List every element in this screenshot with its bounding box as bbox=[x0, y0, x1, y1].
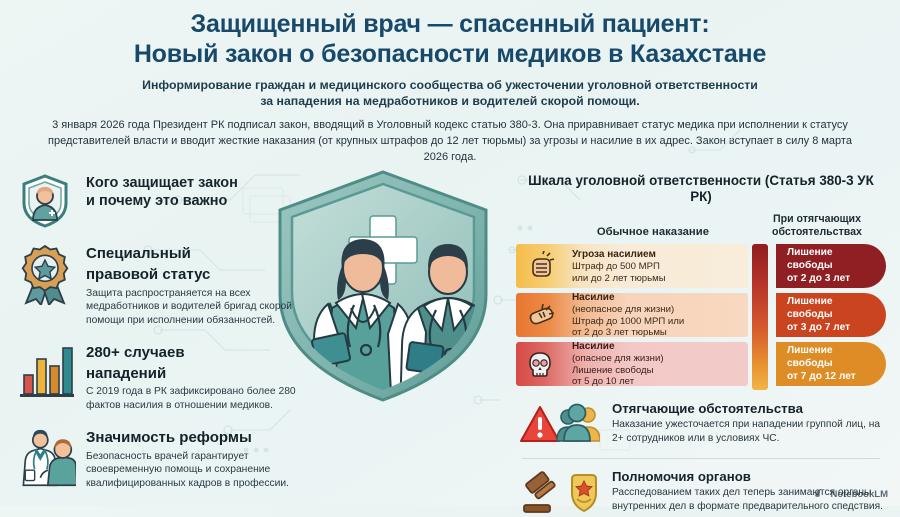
aggravated-line2: от 3 до 7 лет bbox=[787, 322, 872, 335]
penalty-sub-line1: (неопасное для жизни) bbox=[572, 304, 684, 316]
skull-icon bbox=[516, 342, 564, 386]
column-header-aggravated-line2: обстоятельствах bbox=[748, 226, 886, 239]
note-title: Отягчающие обстоятельства bbox=[612, 401, 886, 416]
note-authority-powers: Полномочия органов Расспедованием таких … bbox=[516, 469, 886, 517]
note-aggravating-circumstances: Отягчающие обстоятельства Наказание ужес… bbox=[516, 401, 886, 449]
block-title-line2: нападений bbox=[86, 365, 299, 383]
right-column: Шкала уголовной ответственности (Статья … bbox=[516, 173, 886, 517]
page-title-line2: Новый закон о безопасности медиков в Каз… bbox=[30, 40, 870, 70]
penalty-title: Угроза насилием bbox=[572, 249, 666, 261]
left-heading-line1: Кого защищает закон bbox=[86, 175, 238, 193]
penalty-sub-line3: от 2 до 3 лет тюрьмы bbox=[572, 327, 684, 337]
penalty-row-violence-lethal[interactable]: Насилие (опасное для жизни) Лишение своб… bbox=[516, 342, 748, 386]
aggravated-line1: Лишение свободы bbox=[787, 345, 872, 371]
penalty-row-threat[interactable]: Угроза насилием Штраф до 500 МРП или до … bbox=[516, 244, 748, 288]
aggravated-line2: от 2 до 3 лет bbox=[787, 273, 872, 286]
left-section-heading-block: Кого защищает закон и почему это важно bbox=[14, 173, 299, 229]
left-column: Кого защищает закон и почему это важно С… bbox=[14, 173, 299, 517]
penalty-sub-line1: (опасное для жизни) bbox=[572, 353, 664, 365]
subtitle-line2: за нападения на медработников и водителе… bbox=[30, 93, 870, 109]
block-body: С 2019 года в РК зафиксировано более 280… bbox=[86, 385, 299, 413]
block-title-line1: 280+ случаев bbox=[86, 344, 299, 362]
penalty-sub-line1: Штраф до 500 МРП bbox=[572, 261, 666, 273]
penalty-sub-line3: от 5 до 10 лет bbox=[572, 376, 664, 386]
block-body: Защита распространяется на всех медработ… bbox=[86, 287, 299, 328]
block-title-line1: Значимость реформы bbox=[86, 429, 299, 447]
aggravated-penalty-list: Лишение свободы от 2 до 3 лет Лишение св… bbox=[776, 244, 886, 391]
aggravated-penalty-row-1[interactable]: Лишение свободы от 2 до 3 лет bbox=[776, 244, 886, 288]
section-divider bbox=[522, 458, 880, 459]
column-header-aggravated-line1: При отягчающих bbox=[748, 213, 886, 226]
injured-hand-icon bbox=[516, 293, 564, 337]
block-title-line2: правовой статус bbox=[86, 266, 299, 284]
doctor-patient-icon bbox=[14, 427, 76, 489]
penalty-title: Насилие bbox=[572, 342, 664, 353]
scale-body: Угроза насилием Штраф до 500 МРП или до … bbox=[516, 244, 886, 391]
aggravated-line2: от 7 до 12 лет bbox=[787, 371, 872, 384]
aggravated-line1: Лишение свободы bbox=[787, 296, 872, 322]
warning-triangle-and-group-icon bbox=[516, 401, 602, 449]
aggravated-penalty-row-3[interactable]: Лишение свободы от 7 до 12 лет bbox=[776, 342, 886, 386]
aggravated-line1: Лишение свободы bbox=[787, 247, 872, 273]
subtitle-line1: Информирование граждан и медицинского со… bbox=[30, 77, 870, 93]
penalty-sub-line2: Лишение свободы bbox=[572, 365, 664, 377]
left-block-legal-status: Специальный правовой статус Защита распр… bbox=[14, 243, 299, 328]
column-header-aggravated: При отягчающих обстоятельствах bbox=[748, 213, 886, 238]
left-block-reform-importance: Значимость реформы Безопасность врачей г… bbox=[14, 427, 299, 491]
normal-penalty-list: Угроза насилием Штраф до 500 МРП или до … bbox=[516, 244, 748, 391]
gavel-and-police-badge-icon bbox=[516, 469, 602, 517]
aggravated-penalty-row-2[interactable]: Лишение свободы от 3 до 7 лет bbox=[776, 293, 886, 337]
left-block-attack-statistics: 280+ случаев нападений С 2019 года в РК … bbox=[14, 342, 299, 413]
page-title-line1: Защищенный врач — спасенный пациент: bbox=[30, 10, 870, 40]
note-body: Наказание ужесточается при нападении гру… bbox=[612, 418, 886, 445]
penalty-sub-line2: Штраф до 1000 МРП или bbox=[572, 316, 684, 328]
note-title: Полномочия органов bbox=[612, 469, 886, 484]
severity-gradient-bar bbox=[752, 244, 768, 390]
block-title-line1: Специальный bbox=[86, 245, 299, 263]
column-header-normal: Обычное наказание bbox=[516, 226, 748, 238]
scale-title: Шкала уголовной ответственности (Статья … bbox=[516, 173, 886, 205]
block-body: Безопасность врачей гарантирует своеврем… bbox=[86, 450, 299, 491]
penalty-title: Насилие bbox=[572, 293, 684, 304]
shield-person-icon bbox=[14, 173, 76, 229]
note-body: Расспедованием таких дел теперь занимают… bbox=[612, 486, 886, 513]
fist-icon bbox=[516, 244, 564, 288]
scale-column-headers: Обычное наказание При отягчающих обстоят… bbox=[516, 213, 886, 238]
penalty-sub-line2: или до 2 лет тюрьмы bbox=[572, 273, 666, 285]
medal-icon bbox=[14, 243, 76, 305]
left-heading-line2: и почему это важно bbox=[86, 193, 238, 211]
header: Защищенный врач — спасенный пациент: Нов… bbox=[0, 0, 900, 165]
bar-chart-icon bbox=[14, 342, 76, 400]
penalty-row-violence-non-lethal[interactable]: Насилие (неопасное для жизни) Штраф до 1… bbox=[516, 293, 748, 337]
